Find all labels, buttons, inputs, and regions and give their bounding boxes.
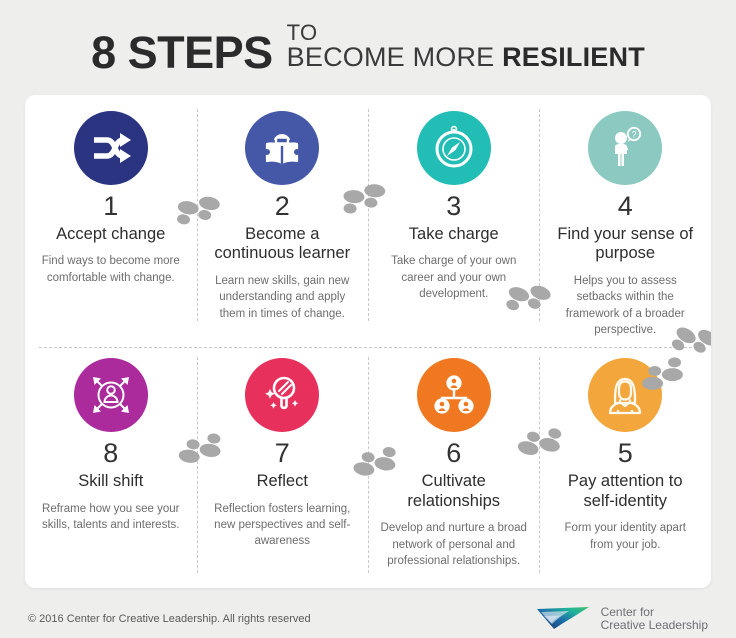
step-title: Take charge <box>409 225 499 244</box>
step-description: Take charge of your own career and your … <box>380 253 528 302</box>
step-number: 6 <box>446 440 461 467</box>
step-card-1[interactable]: 1 Accept change Find ways to become more… <box>25 95 197 344</box>
ccl-swoosh-logo-icon <box>535 603 593 636</box>
step-title: Reflect <box>257 472 308 491</box>
ccl-logo-line2: Creative Leadership <box>601 619 708 632</box>
compass-icon <box>417 111 491 185</box>
page-footer: © 2016 Center for Creative Leadership. A… <box>0 600 736 638</box>
step-number: 2 <box>275 193 290 220</box>
step-card-6[interactable]: 6 Cultivate relationships Develop and nu… <box>368 344 540 588</box>
title-word-to: TO <box>287 22 645 44</box>
step-number: 8 <box>103 440 118 467</box>
step-title: Find your sense of purpose <box>552 225 700 264</box>
shuffle-arrows-icon <box>74 111 148 185</box>
step-description: Develop and nurture a broad network of p… <box>380 520 528 569</box>
title-become-more: BECOME MORE <box>287 42 502 72</box>
step-card-4[interactable]: ? 4 Find your sense of purpose Helps you… <box>540 95 712 344</box>
step-description: Learn new skills, gain new understanding… <box>209 273 357 322</box>
title-resilient: RESILIENT <box>502 42 645 72</box>
step-description: Reflection fosters learning, new perspec… <box>209 501 357 550</box>
title-steps-count: 8 STEPS <box>91 22 273 75</box>
steps-grid: 1 Accept change Find ways to become more… <box>25 95 711 588</box>
step-title: Cultivate relationships <box>380 472 528 511</box>
step-number: 7 <box>275 440 290 467</box>
step-title: Pay attention to self-identity <box>552 472 700 511</box>
step-number: 4 <box>618 193 633 220</box>
step-number: 5 <box>618 440 633 467</box>
step-number: 3 <box>446 193 461 220</box>
step-title: Become a continuous learner <box>209 225 357 264</box>
page-header: 8 STEPS TO BECOME MORE RESILIENT <box>0 0 736 92</box>
svg-text:?: ? <box>632 130 637 140</box>
person-expanding-arrows-icon <box>74 358 148 432</box>
step-number: 1 <box>103 193 118 220</box>
page-title: 8 STEPS TO BECOME MORE RESILIENT <box>91 22 645 75</box>
step-description: Reframe how you see your skills, talents… <box>37 501 185 534</box>
people-network-icon <box>417 358 491 432</box>
step-title: Skill shift <box>78 472 143 491</box>
ccl-logo: Center for Creative Leadership <box>535 603 708 636</box>
person-reading-book-icon <box>245 111 319 185</box>
step-card-2[interactable]: 2 Become a continuous learner Learn new … <box>197 95 369 344</box>
step-card-7[interactable]: 7 Reflect Reflection fosters learning, n… <box>197 344 369 588</box>
ccl-logo-text: Center for Creative Leadership <box>601 606 708 633</box>
step-card-5[interactable]: 5 Pay attention to self-identity Form yo… <box>540 344 712 588</box>
ccl-logo-line1: Center for <box>601 606 708 619</box>
hand-mirror-sparkle-icon <box>245 358 319 432</box>
step-description: Helps you to assess setbacks within the … <box>552 273 700 338</box>
steps-card: 1 Accept change Find ways to become more… <box>25 95 711 588</box>
title-subphrase: TO BECOME MORE RESILIENT <box>287 22 645 72</box>
title-second-line: BECOME MORE RESILIENT <box>287 44 645 72</box>
step-description: Form your identity apart from your job. <box>552 520 700 553</box>
step-title: Accept change <box>56 225 165 244</box>
thinking-person-question-icon: ? <box>588 111 662 185</box>
person-portrait-icon <box>588 358 662 432</box>
step-card-3[interactable]: 3 Take charge Take charge of your own ca… <box>368 95 540 344</box>
step-description: Find ways to become more comfortable wit… <box>37 253 185 286</box>
copyright-text: © 2016 Center for Creative Leadership. A… <box>28 613 311 625</box>
step-card-8[interactable]: 8 Skill shift Reframe how you see your s… <box>25 344 197 588</box>
